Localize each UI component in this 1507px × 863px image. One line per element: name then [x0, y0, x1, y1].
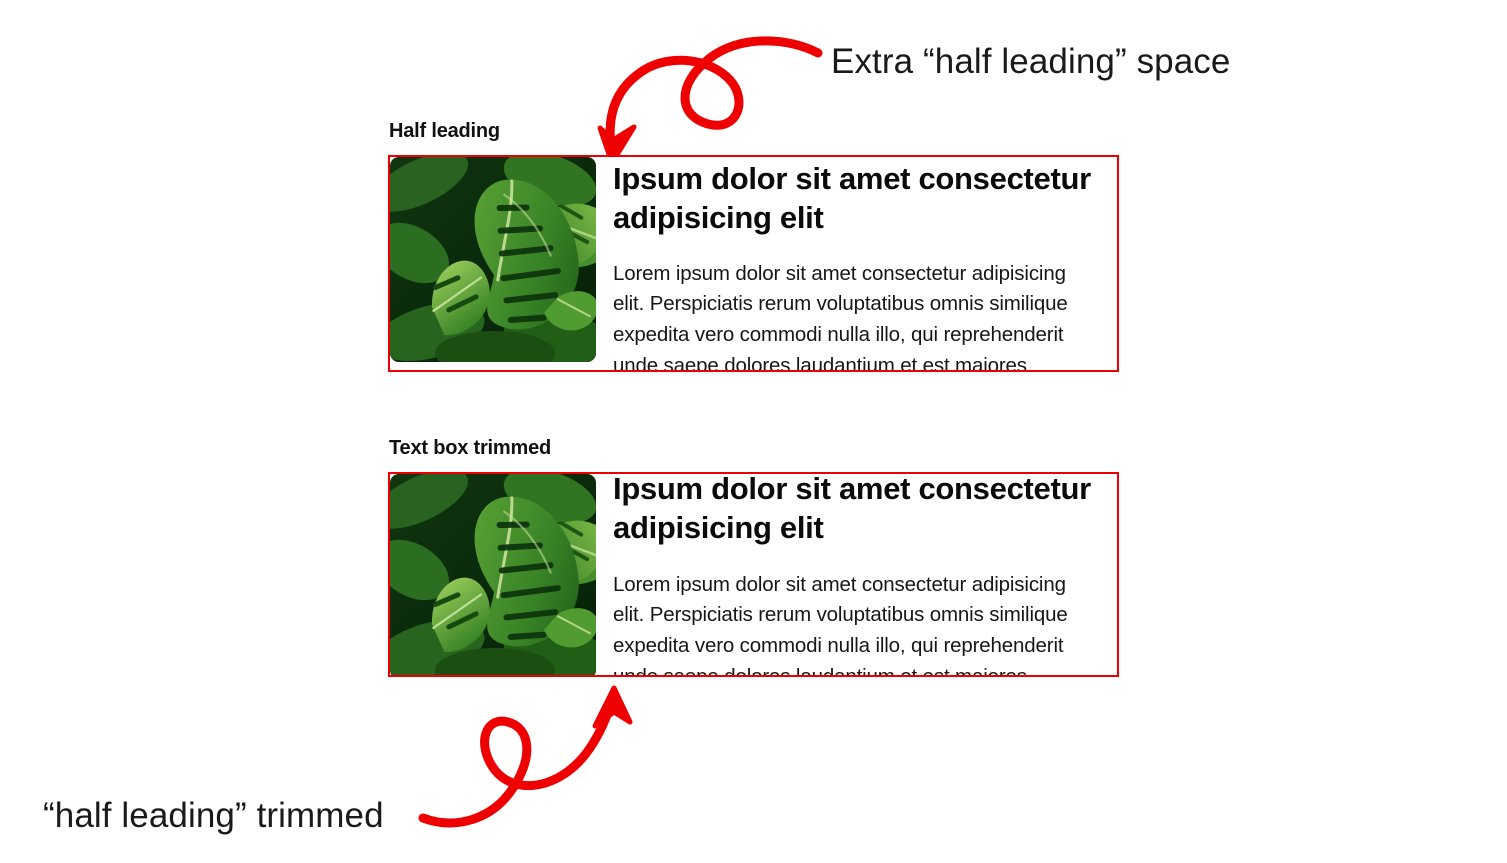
callout-label-bottom: “half leading” trimmed: [43, 796, 384, 836]
card-heading: Ipsum dolor sit amet consectetur adipisi…: [613, 159, 1107, 238]
block-label-half-leading: Half leading: [389, 120, 1119, 142]
monstera-leaves-photo: [390, 474, 596, 677]
card-text-trimmed: Ipsum dolor sit amet consectetur adipisi…: [596, 474, 1117, 677]
monstera-leaves-photo: [390, 157, 596, 362]
card-body-text: Lorem ipsum dolor sit amet consectetur a…: [613, 570, 1100, 677]
card-text-box-trimmed: Ipsum dolor sit amet consectetur adipisi…: [388, 472, 1119, 677]
demo-block-half-leading: Half leading: [388, 120, 1119, 372]
block-label-text-box-trimmed: Text box trimmed: [389, 437, 1119, 459]
card-heading: Ipsum dolor sit amet consectetur adipisi…: [613, 472, 1107, 548]
card-body-text: Lorem ipsum dolor sit amet consectetur a…: [613, 259, 1100, 372]
demo-block-text-box-trimmed: Text box trimmed: [388, 437, 1119, 677]
card-half-leading: Ipsum dolor sit amet consectetur adipisi…: [388, 155, 1119, 372]
callout-label-top: Extra “half leading” space: [831, 42, 1230, 82]
curved-loop-arrow-up-right-icon: [423, 688, 630, 823]
card-text-half-leading: Ipsum dolor sit amet consectetur adipisi…: [596, 157, 1117, 372]
